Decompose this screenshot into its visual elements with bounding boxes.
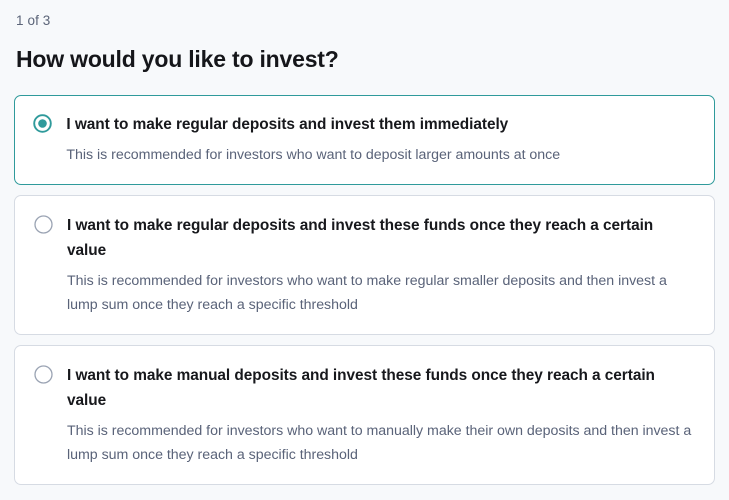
investment-option-list: I want to make regular deposits and inve… <box>14 95 715 485</box>
page-title: How would you like to invest? <box>14 45 715 73</box>
radio-selected-icon[interactable] <box>33 114 52 133</box>
invest-preference-page: 1 of 3 How would you like to invest? I w… <box>0 0 729 500</box>
radio-unselected-icon[interactable] <box>34 365 53 384</box>
option-body: I want to make manual deposits and inves… <box>67 363 694 467</box>
option-body: I want to make regular deposits and inve… <box>67 213 694 317</box>
option-card-regular-deposits-immediate[interactable]: I want to make regular deposits and inve… <box>14 95 715 185</box>
option-description: This is recommended for investors who wa… <box>67 419 694 467</box>
option-card-manual-deposits-threshold[interactable]: I want to make manual deposits and inves… <box>14 345 715 485</box>
option-title: I want to make manual deposits and inves… <box>67 363 689 413</box>
option-card-regular-deposits-threshold[interactable]: I want to make regular deposits and inve… <box>14 195 715 335</box>
option-title: I want to make regular deposits and inve… <box>66 112 694 137</box>
step-counter: 1 of 3 <box>14 0 715 29</box>
radio-unselected-icon[interactable] <box>34 215 53 234</box>
option-body: I want to make regular deposits and inve… <box>66 112 694 167</box>
option-title: I want to make regular deposits and inve… <box>67 213 694 263</box>
option-description: This is recommended for investors who wa… <box>67 269 694 317</box>
option-description: This is recommended for investors who wa… <box>66 143 694 167</box>
